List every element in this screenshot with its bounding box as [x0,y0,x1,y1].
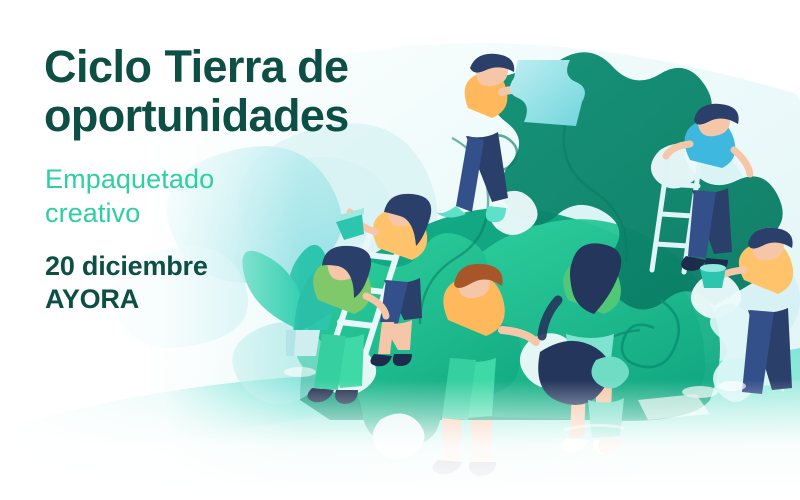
poster-canvas: CicloTierra de oportunidades Empaquetado… [0,0,800,500]
illustration [0,0,800,500]
